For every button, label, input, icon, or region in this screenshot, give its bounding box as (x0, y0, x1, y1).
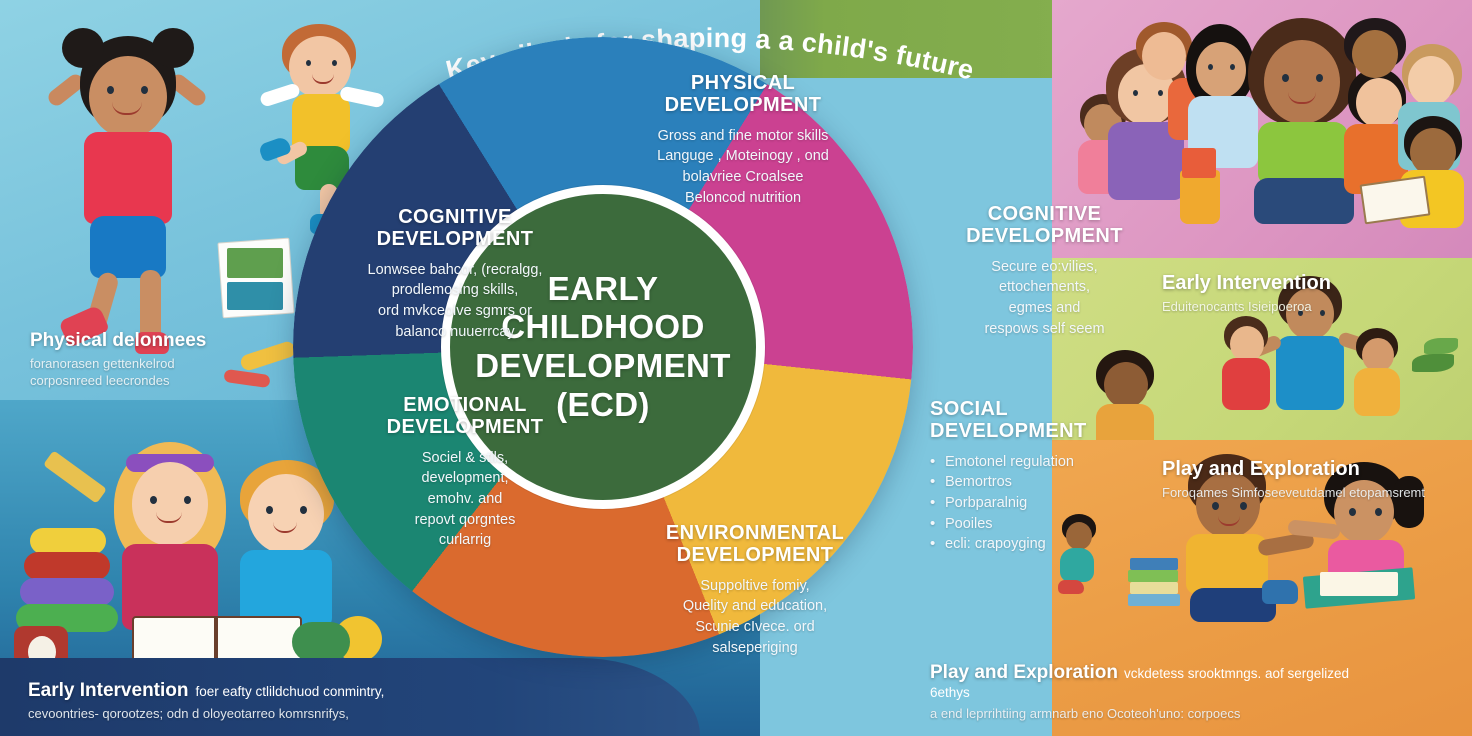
title-line-1: EMOTIONAL (340, 394, 590, 416)
segment-body-social: Emotonel regulation Bemortros Porbparaln… (930, 452, 1180, 555)
child6-head (1356, 78, 1402, 128)
title-line-2: DEVELOPMENT (598, 94, 888, 116)
social-bullet-list: Emotonel regulation Bemortros Porbparaln… (930, 452, 1180, 555)
head (89, 56, 167, 138)
boy-head (248, 474, 324, 554)
body-line: bolavriee Croalsee (598, 167, 888, 188)
segment-body-emotional: Sociel & stlls, development, emohv. and … (340, 448, 590, 551)
child7-head (1352, 30, 1398, 78)
title-line-1: COGNITIVE (330, 206, 580, 228)
body-line: curlarrig (340, 530, 590, 551)
caption-subtitle: a end leprrihtiing armnarb eno Ocoteoh'u… (930, 705, 1390, 722)
caption-title: Early Intervention (28, 680, 189, 701)
boy-eye-r (1240, 502, 1247, 510)
open-book (1320, 572, 1398, 596)
crayon-cup (1180, 170, 1220, 224)
eye-right (332, 60, 337, 66)
child5-eye-r (1316, 74, 1323, 82)
child4-eye-l (1208, 64, 1213, 70)
caption-title: Early Intervention (1162, 272, 1462, 295)
shorts (90, 216, 166, 278)
child5-head (1264, 40, 1340, 124)
caption-first-row: Play and Explorationvckdetess srooktmngs… (930, 662, 1390, 702)
caption-title: Physical delonnees (30, 330, 290, 352)
segment-body-cognitive-left: Lonwsee bahcor, (recralgg, prodlemosing … (330, 260, 580, 342)
book-stack-2 (1128, 570, 1178, 582)
segment-label-cognitive-right: COGNITIVE DEVELOPMENT Secure eo:vilies, … (922, 203, 1167, 339)
segment-title-physical: PHYSICAL DEVELOPMENT (598, 72, 888, 117)
caption-play-exploration-bottom: Play and Explorationvckdetess srooktmngs… (930, 662, 1390, 722)
eye-left (107, 86, 114, 94)
title-line-1: COGNITIVE (922, 203, 1167, 225)
toy-green (292, 622, 350, 662)
title-line-2: DEVELOPMENT (930, 420, 1180, 442)
child5-eye-l (1282, 74, 1289, 82)
child4-eye-r (1230, 64, 1235, 70)
leaf-sprig (1412, 354, 1454, 372)
girl-eye-right (184, 496, 191, 504)
segment-label-social: SOCIAL DEVELOPMENT Emotonel regulation B… (930, 398, 1180, 555)
segment-label-environmental: ENVIRONMENTAL DEVELOPMENT Suppoltive fom… (610, 522, 900, 658)
eye-left (306, 60, 311, 66)
body-line: emohv. and (340, 489, 590, 510)
title-line-1: SOCIAL (930, 398, 1180, 420)
segment-body-physical: Gross and fine motor skills Languge , Mo… (598, 126, 888, 208)
book-page-art-bottom (227, 282, 283, 310)
bullet-item: Porbparalnig (930, 493, 1180, 514)
pencil (43, 450, 107, 503)
body-line: repovt qorgntes (340, 510, 590, 531)
child-a-head (1230, 326, 1264, 362)
segment-label-cognitive-left: COGNITIVE DEVELOPMENT Lonwsee bahcor, (r… (330, 206, 580, 342)
boy-eye-l (1212, 502, 1219, 510)
body-line: Secure eo:vilies, (922, 257, 1167, 278)
title-line-1: PHYSICAL (598, 72, 888, 94)
girl-eye-left (150, 496, 157, 504)
segment-title-social: SOCIAL DEVELOPMENT (930, 398, 1180, 443)
boy-eye-right (300, 506, 307, 514)
girl-eye-l (1349, 508, 1356, 516)
title-line-2: DEVELOPMENT (922, 225, 1167, 247)
girl-eye-r (1375, 508, 1382, 516)
stacking-ring-red (24, 552, 110, 580)
segment-title-cognitive-left: COGNITIVE DEVELOPMENT (330, 206, 580, 251)
body-line: Languge , Moteinogy , ond (598, 146, 888, 167)
child4-head (1196, 42, 1246, 98)
child2-eye-r (1158, 90, 1163, 96)
body-line: Lonwsee bahcor, (recralgg, (330, 260, 580, 281)
caption-title: Play and Exploration (1162, 458, 1462, 481)
bullet-item: Pooiles (930, 514, 1180, 535)
illustration-jumping-girl (40, 20, 240, 350)
child9-head (1410, 128, 1456, 176)
shoe (1058, 580, 1084, 594)
body-line: Suppoltive fomiy, (610, 576, 900, 597)
segment-label-physical: PHYSICAL DEVELOPMENT Gross and fine moto… (598, 72, 888, 208)
girl-head (132, 462, 208, 546)
body-line: Gross and fine motor skills (598, 126, 888, 147)
child-b-head (1362, 338, 1394, 372)
child-b-body (1354, 368, 1400, 416)
body-line: ettochements, (922, 277, 1167, 298)
segment-title-emotional: EMOTIONAL DEVELOPMENT (340, 394, 590, 439)
bullet-item: ecli: crapoyging (930, 534, 1180, 555)
book-page-art-top (227, 248, 283, 278)
hair-puff-left (62, 28, 104, 68)
caption-first-row: Early Interventionfoer eafty ctlildchuod… (28, 680, 448, 702)
title-line-2: DEVELOPMENT (330, 228, 580, 250)
caption-inline-text: foer eafty ctlildchuod conmintry, (196, 684, 385, 699)
adult-body (1276, 336, 1344, 410)
body-line: balanco nuuerrcay (330, 322, 580, 343)
title-line-2: DEVELOPMENT (610, 544, 900, 566)
book-stack-1 (1130, 558, 1178, 570)
leaf-sprig2 (1424, 338, 1458, 354)
segment-body-cognitive-right: Secure eo:vilies, ettochements, egmes an… (922, 257, 1167, 339)
child8-head (1408, 56, 1454, 106)
illustration-picture-books (216, 236, 296, 320)
body-line: development, (340, 468, 590, 489)
child2-eye-l (1133, 90, 1138, 96)
caption-subtitle: foranorasen gettenkelrod corposnreed lee… (30, 355, 290, 390)
boy-eye-left (266, 506, 273, 514)
center-line-3: DEVELOPMENT (475, 347, 731, 386)
body-line: Sociel & stlls, (340, 448, 590, 469)
child-a-body (1222, 358, 1270, 410)
boy-shirt (1186, 534, 1268, 594)
caption-sub-line: corposnreed leecrondes (30, 372, 290, 389)
caption-subtitle: cevoontries- qorootzes; odn d oloyeotarr… (28, 705, 448, 722)
segment-label-emotional: EMOTIONAL DEVELOPMENT Sociel & stlls, de… (340, 394, 590, 551)
child3-head (1142, 32, 1186, 80)
child5-shirt (1258, 122, 1348, 184)
caption-early-intervention-right: Early Intervention Eduitenocants Isieipo… (1162, 272, 1462, 315)
title-line-2: DEVELOPMENT (340, 416, 590, 438)
caption-physical-left: Physical delonnees foranorasen gettenkel… (30, 330, 290, 389)
book-stack-4 (1128, 594, 1180, 606)
caption-sub-line: foranorasen gettenkelrod (30, 355, 290, 372)
caption-title: Play and Exploration (930, 662, 1118, 683)
child5-pants (1254, 178, 1354, 224)
segment-title-cognitive-right: COGNITIVE DEVELOPMENT (922, 203, 1167, 248)
hair-puff-right (152, 28, 194, 68)
caption-subtitle: Foroqames Simfoseeveutdamel etopamsremt (1162, 484, 1462, 501)
caption-play-exploration-right: Play and Exploration Foroqames Simfoseev… (1162, 458, 1462, 501)
body-line: ord mvkceolve sgmrs or (330, 301, 580, 322)
infographic-canvas: Key cilcels for shaping a a child's futu… (0, 0, 1472, 736)
bullet-item: Bemortros (930, 472, 1180, 493)
eye-right (141, 86, 148, 94)
segment-body-environmental: Suppoltive fomiy, Quelity and education,… (610, 576, 900, 658)
book-stack-3 (1130, 582, 1178, 594)
body-line: prodlemosing skills, (330, 280, 580, 301)
body-line: Quelity and education, (610, 596, 900, 617)
body-line: Scunie cIvece. ord (610, 617, 900, 638)
body-line: egmes and (922, 298, 1167, 319)
boy-shoe (1262, 580, 1298, 604)
body-line: Beloncod nutrition (598, 188, 888, 209)
crayon-set (1182, 148, 1216, 178)
stacking-ring-purple (20, 578, 114, 606)
caption-subtitle: Eduitenocants Isieipoeroa (1162, 298, 1462, 315)
body-line: respows self seem (922, 319, 1167, 340)
shirt (84, 132, 172, 224)
stacking-ring-yellow (30, 528, 106, 554)
title-line-1: ENVIRONMENTAL (610, 522, 900, 544)
segment-title-environmental: ENVIRONMENTAL DEVELOPMENT (610, 522, 900, 567)
caption-early-intervention-bottom: Early Interventionfoer eafty ctlildchuod… (28, 680, 448, 722)
bullet-item: Emotonel regulation (930, 452, 1180, 473)
body-line: salseperiging (610, 638, 900, 659)
